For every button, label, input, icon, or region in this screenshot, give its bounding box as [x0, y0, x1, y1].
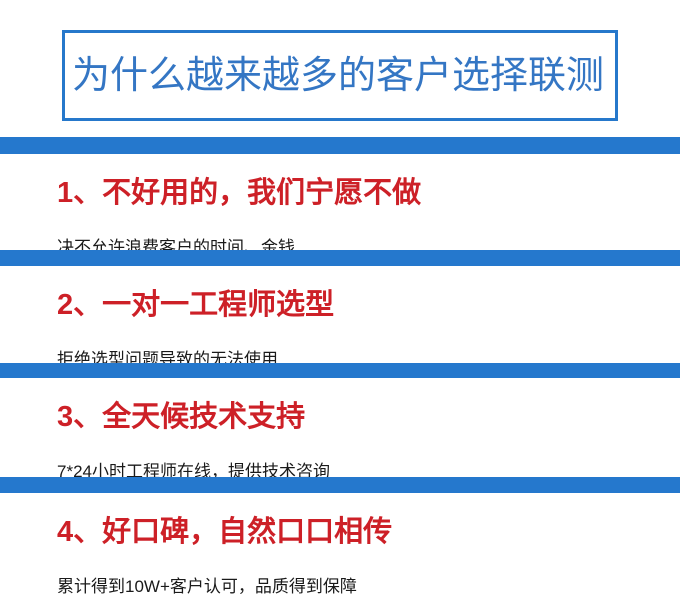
- feature-section-4: 4、好口碑，自然口口相传 累计得到10W+客户认可，品质得到保障: [0, 477, 680, 595]
- section-body: 2、一对一工程师选型 拒绝选型问题导致的无法使用: [0, 291, 680, 368]
- page-title-box: 为什么越来越多的客户选择联测: [62, 30, 618, 121]
- page-title: 为什么越来越多的客户选择联测: [65, 57, 604, 95]
- section-heading: 4、好口碑，自然口口相传: [57, 518, 680, 547]
- section-subtitle: 累计得到10W+客户认可，品质得到保障: [57, 578, 680, 595]
- section-divider-bar: [0, 477, 680, 493]
- section-heading: 3、全天候技术支持: [57, 403, 680, 432]
- feature-section-2: 2、一对一工程师选型 拒绝选型问题导致的无法使用: [0, 250, 680, 368]
- section-body: 4、好口碑，自然口口相传 累计得到10W+客户认可，品质得到保障: [0, 518, 680, 595]
- section-divider-bar: [0, 137, 680, 154]
- feature-section-1: 1、不好用的，我们宁愿不做 决不允许浪费客户的时间、金钱: [0, 137, 680, 256]
- section-divider-bar: [0, 250, 680, 266]
- section-divider-bar: [0, 363, 680, 378]
- section-body: 3、全天候技术支持 7*24小时工程师在线，提供技术咨询: [0, 403, 680, 480]
- section-body: 1、不好用的，我们宁愿不做 决不允许浪费客户的时间、金钱: [0, 179, 680, 256]
- section-heading: 2、一对一工程师选型: [57, 291, 680, 320]
- promo-banner: 为什么越来越多的客户选择联测 1、不好用的，我们宁愿不做 决不允许浪费客户的时间…: [0, 0, 680, 598]
- feature-section-3: 3、全天候技术支持 7*24小时工程师在线，提供技术咨询: [0, 363, 680, 480]
- section-heading: 1、不好用的，我们宁愿不做: [57, 179, 680, 208]
